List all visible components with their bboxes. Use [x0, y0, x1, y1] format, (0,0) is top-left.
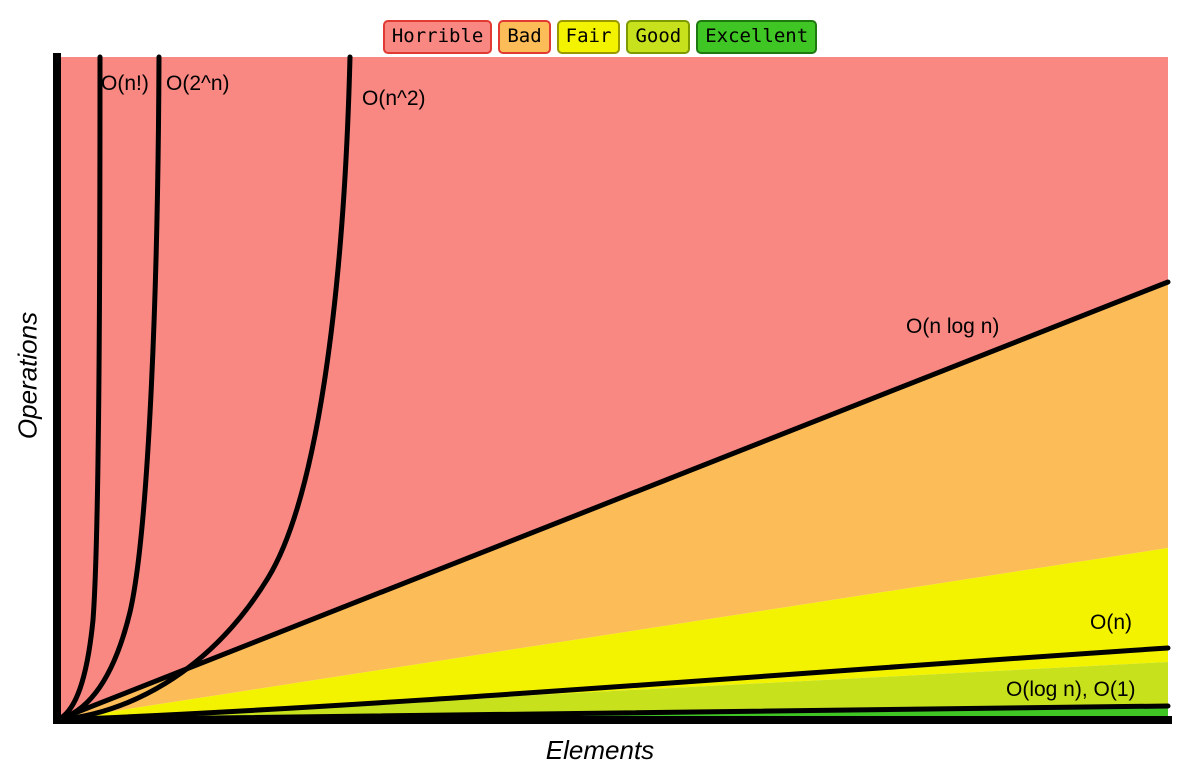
curve-label-o-n: O(n): [1090, 612, 1132, 633]
curve-label-o-log-n-o-1: O(log n), O(1): [1006, 679, 1136, 700]
curve-label-o-n-factorial: O(n!): [101, 73, 149, 94]
big-o-complexity-chart: O(n!) O(2^n) O(n^2) O(n log n) O(n) O(lo…: [0, 0, 1200, 774]
curve-label-o-n-log-n: O(n log n): [906, 316, 999, 337]
curve-label-o-n-squared: O(n^2): [362, 88, 426, 109]
y-axis-title: Operations: [13, 306, 44, 446]
chart-canvas: [0, 0, 1200, 774]
x-axis-title: Elements: [0, 735, 1200, 766]
curve-label-o-2-pow-n: O(2^n): [166, 73, 230, 94]
